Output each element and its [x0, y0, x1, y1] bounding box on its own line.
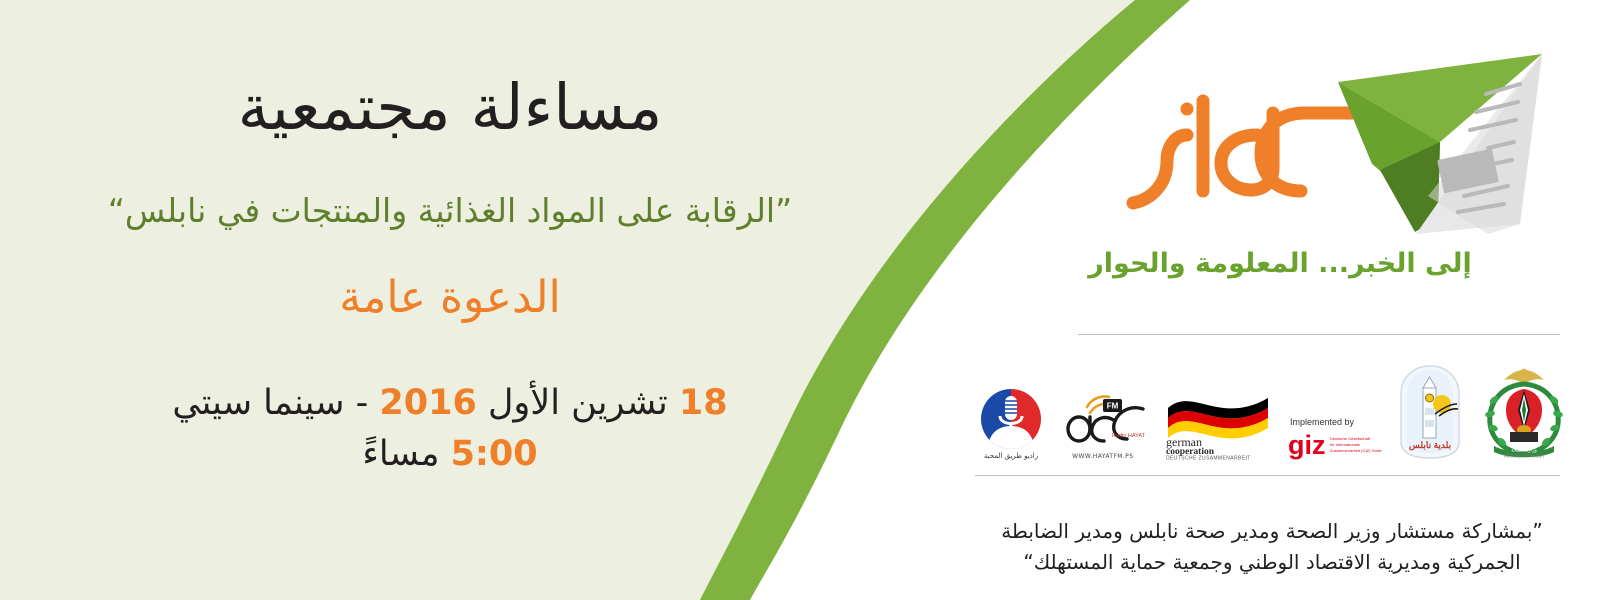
event-time-line: 5:00 مساءً: [0, 429, 900, 480]
event-day: 18: [679, 383, 728, 423]
event-subtitle: ”الرقابة على المواد الغذائية والمنتجات ف…: [0, 190, 900, 233]
partner-line3: DEUTSCHE ZUSAMMENARBEIT: [1166, 456, 1251, 461]
nablus-municipality-icon: بلدية نابلس: [1397, 364, 1463, 460]
svg-text:für Internationale: für Internationale: [1330, 442, 1361, 447]
hayat-fm-icon: FM Radio HAYAT: [1057, 389, 1149, 451]
event-date-line: 18 تشرين الأول 2016 - سينما سيتي: [0, 378, 900, 429]
partner-logos: راديو طريق المحبة FM: [980, 350, 1570, 460]
event-month: تشرين الأول: [477, 383, 679, 423]
page-title: مساءلة مجتمعية: [0, 72, 900, 144]
partner-logo-german-cooperation: german cooperation DEUTSCHE ZUSAMMENARBE…: [1164, 356, 1272, 460]
giz-icon: Implemented by giz Deutsche Gesellschaft…: [1286, 412, 1382, 460]
left-content: مساءلة مجتمعية ”الرقابة على المواد الغذا…: [0, 0, 960, 600]
partner-caption-en: Ministry Of Health: [1504, 454, 1544, 460]
brand-logo-row: [990, 38, 1570, 253]
svg-text:Zusammenarbeit (GIZ) GmbH: Zusammenarbeit (GIZ) GmbH: [1330, 448, 1382, 453]
partner-logo-nablus-municipality: بلدية نابلس: [1397, 356, 1463, 460]
partner-submark: Radio HAYAT: [1112, 433, 1146, 439]
divider-bottom: [975, 475, 1560, 476]
giz-implemented-by: Implemented by: [1290, 417, 1355, 427]
partner-caption: بلدية نابلس: [1409, 440, 1451, 451]
partner-logo-radio-tariq-almahabba: راديو طريق المحبة: [980, 356, 1042, 460]
brand-tagline: إلى الخبر... المعلومة والحوار: [980, 248, 1580, 279]
german-flag-wave-icon: german cooperation DEUTSCHE ZUSAMMENARBE…: [1164, 390, 1272, 460]
brand-logo-block: إلى الخبر... المعلومة والحوار: [980, 38, 1580, 303]
svg-text:FM: FM: [1107, 402, 1119, 411]
giz-wordmark: giz: [1288, 430, 1326, 460]
event-venue: - سينما سيتي: [172, 383, 379, 423]
right-panel: إلى الخبر... المعلومة والحوار: [960, 0, 1600, 600]
microphone-circle-icon: [980, 388, 1042, 450]
event-time-period: مساءً: [362, 434, 450, 474]
paper-plane-icon: [1320, 46, 1560, 246]
partner-caption: راديو طريق المحبة: [984, 452, 1038, 460]
ministry-of-health-icon: وزارة الصحة Ministry Of Health: [1478, 364, 1570, 460]
event-year: 2016: [379, 383, 476, 423]
participants-note: ”بمشاركة مستشار وزير الصحة ومدير صحة ناب…: [972, 516, 1572, 578]
svg-text:Deutsche Gesellschaft: Deutsche Gesellschaft: [1330, 436, 1371, 441]
divider-top: [1078, 334, 1560, 335]
event-time: 5:00: [451, 434, 538, 474]
partner-logo-giz: Implemented by giz Deutsche Gesellschaft…: [1286, 356, 1382, 460]
partner-caption: WWW.HAYATFM.PS: [1072, 453, 1133, 460]
event-datetime: 18 تشرين الأول 2016 - سينما سيتي 5:00 مس…: [0, 378, 900, 480]
event-banner: مساءلة مجتمعية ”الرقابة على المواد الغذا…: [0, 0, 1600, 600]
public-invitation-label: الدعوة عامة: [0, 272, 900, 325]
partner-logo-ministry-of-health: وزارة الصحة Ministry Of Health: [1478, 356, 1570, 460]
partner-logo-hayat-fm: FM Radio HAYAT WWW.HAYATFM.PS: [1057, 356, 1149, 460]
